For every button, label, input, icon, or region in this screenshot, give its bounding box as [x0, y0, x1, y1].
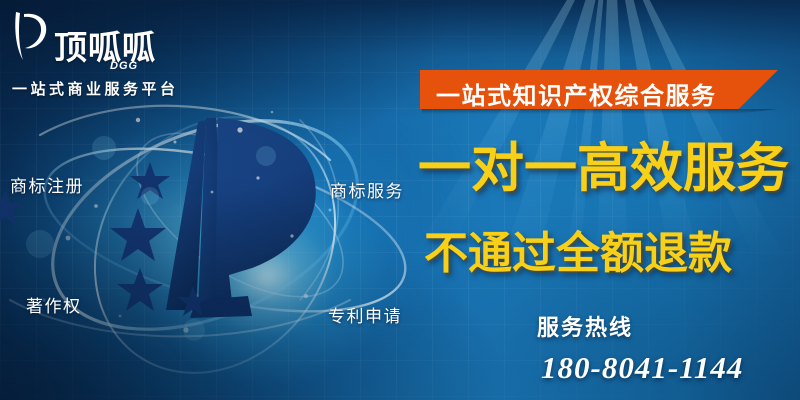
service-label-trademark-registration[interactable]: 商标注册: [10, 172, 84, 197]
headline-sub: 不通过全额退款: [424, 232, 732, 276]
service-label-patent-application[interactable]: 专利申请: [328, 302, 402, 327]
brand-logo[interactable]: 顶呱呱 DGG 一站式商业服务平台: [8, 8, 198, 99]
hotline-number[interactable]: 180-8041-1144: [541, 350, 743, 386]
dgg-feather-mark-icon: [8, 8, 52, 64]
ribbon-text: 一站式知识产权综合服务: [436, 76, 717, 111]
brand-name: 顶呱呱: [54, 31, 156, 64]
service-label-trademark-service[interactable]: 商标服务: [330, 177, 404, 202]
promo-banner: 顶呱呱 DGG 一站式商业服务平台 商标注册 著作权 商标服务 专利申请 一站式…: [0, 0, 800, 400]
brand-tagline: 一站式商业服务平台: [12, 78, 198, 99]
headline-main: 一对一高效服务: [418, 142, 789, 195]
service-label-copyright[interactable]: 著作权: [26, 292, 82, 317]
hotline-label: 服务热线: [537, 310, 633, 342]
